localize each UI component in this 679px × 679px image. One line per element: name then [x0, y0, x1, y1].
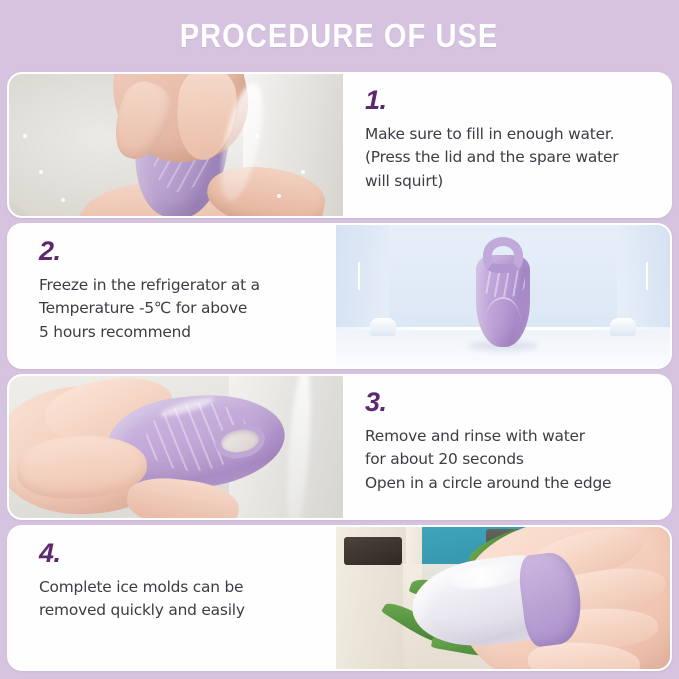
mold-loop-handle — [483, 237, 523, 273]
step-row-2: 2. Freeze in the refrigerator at a Tempe… — [7, 223, 672, 369]
title-bar: PROCEDURE OF USE — [0, 0, 679, 72]
step-row-1: 1. Make sure to fill in enough water. (P… — [7, 72, 672, 218]
water-droplets — [9, 74, 343, 216]
dark-panel — [344, 537, 402, 565]
step-3-line-3: Open in a circle around the edge — [365, 472, 654, 495]
step-2-line-3: 5 hours recommend — [39, 321, 320, 344]
step-4-line-2: removed quickly and easily — [39, 599, 320, 622]
step-2-photo-mold-in-freezer — [336, 225, 670, 367]
shelf-bracket-left — [370, 318, 396, 336]
step-2-line-1: Freeze in the refrigerator at a — [39, 274, 320, 297]
step-row-4: 4. Complete ice molds can be removed qui… — [7, 525, 672, 671]
step-1-number: 1. — [365, 87, 654, 114]
step-4-number: 4. — [39, 540, 320, 567]
step-2-description: Freeze in the refrigerator at a Temperat… — [39, 274, 320, 344]
step-3-text-panel: 3. Remove and rinse with water for about… — [343, 376, 670, 518]
step-1-photo-hands-rinsing-mold — [9, 74, 343, 216]
step-3-line-1: Remove and rinse with water — [365, 425, 654, 448]
step-2-text-panel: 2. Freeze in the refrigerator at a Tempe… — [9, 225, 336, 367]
step-1-line-3: will squirt) — [365, 170, 654, 193]
freezer-right-edge — [646, 262, 648, 290]
step-1-line-2: (Press the lid and the spare water — [365, 146, 654, 169]
step-4-photo-finished-ice-mold — [336, 527, 670, 669]
step-3-photo-hand-holding-wet-mold — [9, 376, 343, 518]
step-row-3: 3. Remove and rinse with water for about… — [7, 374, 672, 520]
step-1-description: Make sure to fill in enough water. (Pres… — [365, 123, 654, 193]
freezer-left-edge — [358, 262, 360, 290]
step-1-text-panel: 1. Make sure to fill in enough water. (P… — [343, 74, 670, 216]
step-2-line-2: Temperature -5℃ for above — [39, 297, 320, 320]
shelf-bracket-right — [610, 318, 636, 336]
step-3-line-2: for about 20 seconds — [365, 448, 654, 471]
steps-list: 1. Make sure to fill in enough water. (P… — [0, 72, 679, 671]
infographic-page: PROCEDURE OF USE — [0, 0, 679, 679]
step-3-number: 3. — [365, 389, 654, 416]
step-4-text-panel: 4. Complete ice molds can be removed qui… — [9, 527, 336, 669]
step-2-number: 2. — [39, 238, 320, 265]
step-1-line-1: Make sure to fill in enough water. — [365, 123, 654, 146]
step-4-description: Complete ice molds can be removed quickl… — [39, 576, 320, 623]
page-title: PROCEDURE OF USE — [180, 17, 499, 55]
step-4-line-1: Complete ice molds can be — [39, 576, 320, 599]
step-3-description: Remove and rinse with water for about 20… — [365, 425, 654, 495]
